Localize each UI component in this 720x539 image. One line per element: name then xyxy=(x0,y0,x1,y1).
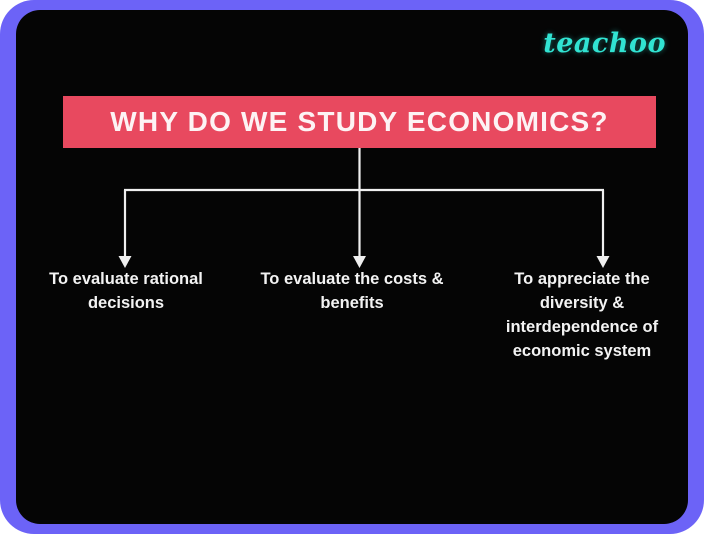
connector-lines xyxy=(16,10,688,524)
purple-frame-border: teachoo WHY DO WE STUDY ECONOMICS? To xyxy=(0,0,704,534)
branch-label-2: To evaluate the costs & benefits xyxy=(238,268,466,316)
slide-canvas: teachoo WHY DO WE STUDY ECONOMICS? To xyxy=(0,0,720,539)
arrowhead-branch-2 xyxy=(353,256,366,268)
slide-content-area: teachoo WHY DO WE STUDY ECONOMICS? To xyxy=(16,10,688,524)
branch-label-1: To evaluate rational decisions xyxy=(26,268,226,316)
branch-label-row: To evaluate rational decisions To evalua… xyxy=(16,268,688,398)
arrowhead-branch-3 xyxy=(597,256,610,268)
arrowhead-branch-1 xyxy=(119,256,132,268)
branch-label-3: To appreciate the diversity & interdepen… xyxy=(482,268,682,364)
